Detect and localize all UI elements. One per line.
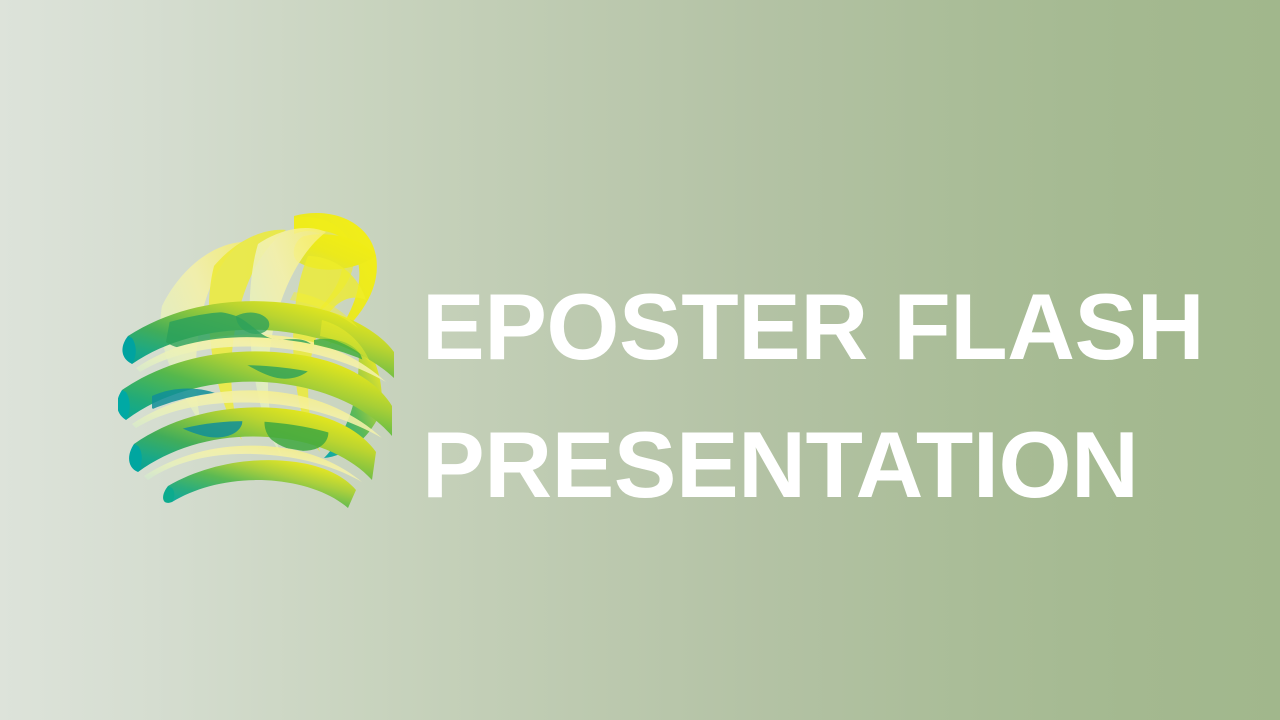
logo-band-4 bbox=[168, 460, 356, 508]
slide-canvas: EPOSTER FLASH PRESENTATION bbox=[0, 0, 1280, 720]
page-title-line-1: EPOSTER FLASH bbox=[422, 258, 1212, 396]
page-title-line-2: PRESENTATION bbox=[422, 396, 1212, 534]
logo-ribbon-group bbox=[118, 213, 394, 508]
globe-ribbon-logo bbox=[118, 200, 400, 522]
slide-title-block: EPOSTER FLASH PRESENTATION bbox=[422, 258, 1212, 534]
